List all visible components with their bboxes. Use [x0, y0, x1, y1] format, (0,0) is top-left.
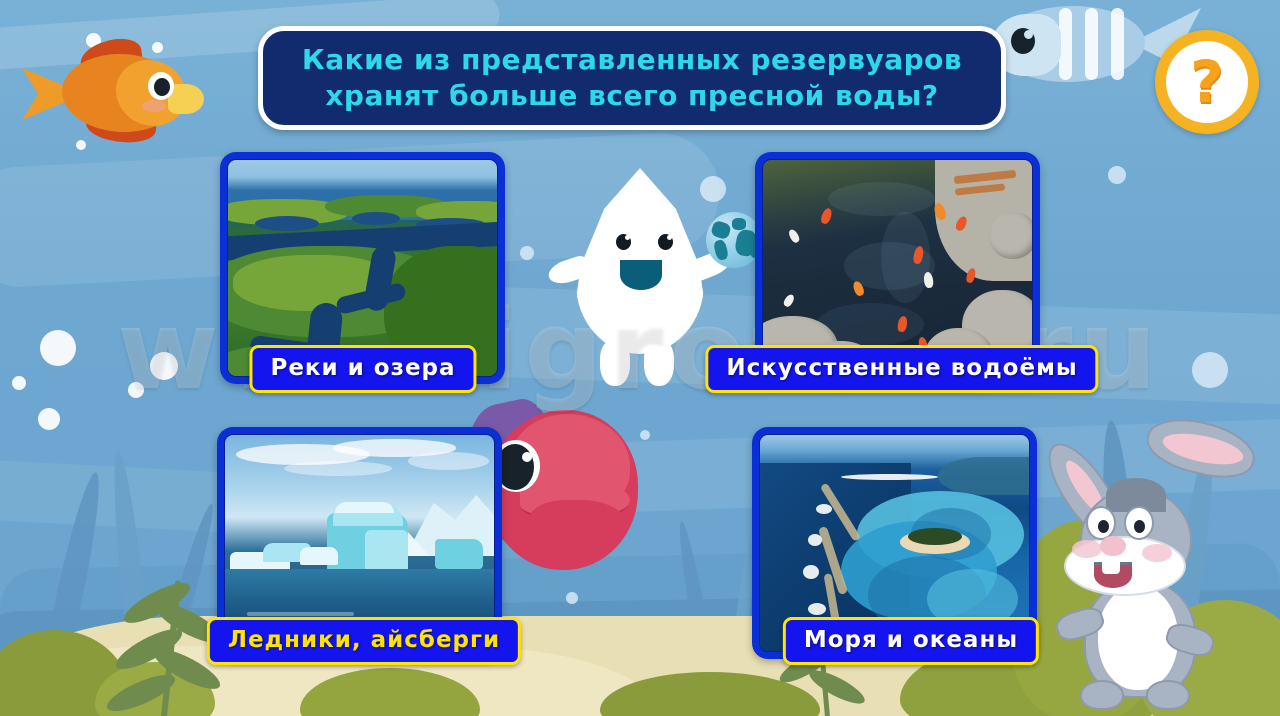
answer-label-glaciers[interactable]: Ледники, айсберги [207, 617, 521, 665]
answer-label-artificial[interactable]: Искусственные водоёмы [705, 345, 1098, 393]
mascot-right-eye [658, 234, 673, 250]
bubble [38, 408, 60, 430]
bubble [12, 376, 26, 390]
mascot-smile [620, 260, 662, 290]
question-mark-icon: ? [1190, 53, 1224, 111]
answer-label-rivers[interactable]: Реки и озера [249, 345, 476, 393]
red-fish-decoration [470, 396, 700, 586]
answer-label-text: Искусственные водоёмы [726, 355, 1077, 381]
help-button[interactable]: ? [1155, 30, 1259, 134]
answer-label-text: Ледники, айсберги [228, 627, 500, 653]
bubble [566, 592, 578, 604]
rabbit-decoration [1050, 430, 1280, 716]
bubble [128, 382, 144, 398]
question-text: Какие из представленных резервуаров хран… [288, 42, 976, 115]
question-banner: Какие из представленных резервуаров хран… [258, 26, 1006, 130]
bubble [40, 330, 76, 366]
answer-label-text: Моря и океаны [804, 627, 1018, 653]
bubble [520, 246, 534, 260]
globe-icon [706, 212, 762, 268]
bubble [150, 352, 178, 380]
bubble [1108, 166, 1126, 184]
answer-label-text: Реки и озера [270, 355, 455, 381]
bubble [1192, 352, 1228, 388]
answer-label-oceans[interactable]: Моря и океаны [783, 617, 1039, 665]
mascot-left-eye [616, 234, 631, 250]
orange-fish-decoration [20, 38, 210, 148]
